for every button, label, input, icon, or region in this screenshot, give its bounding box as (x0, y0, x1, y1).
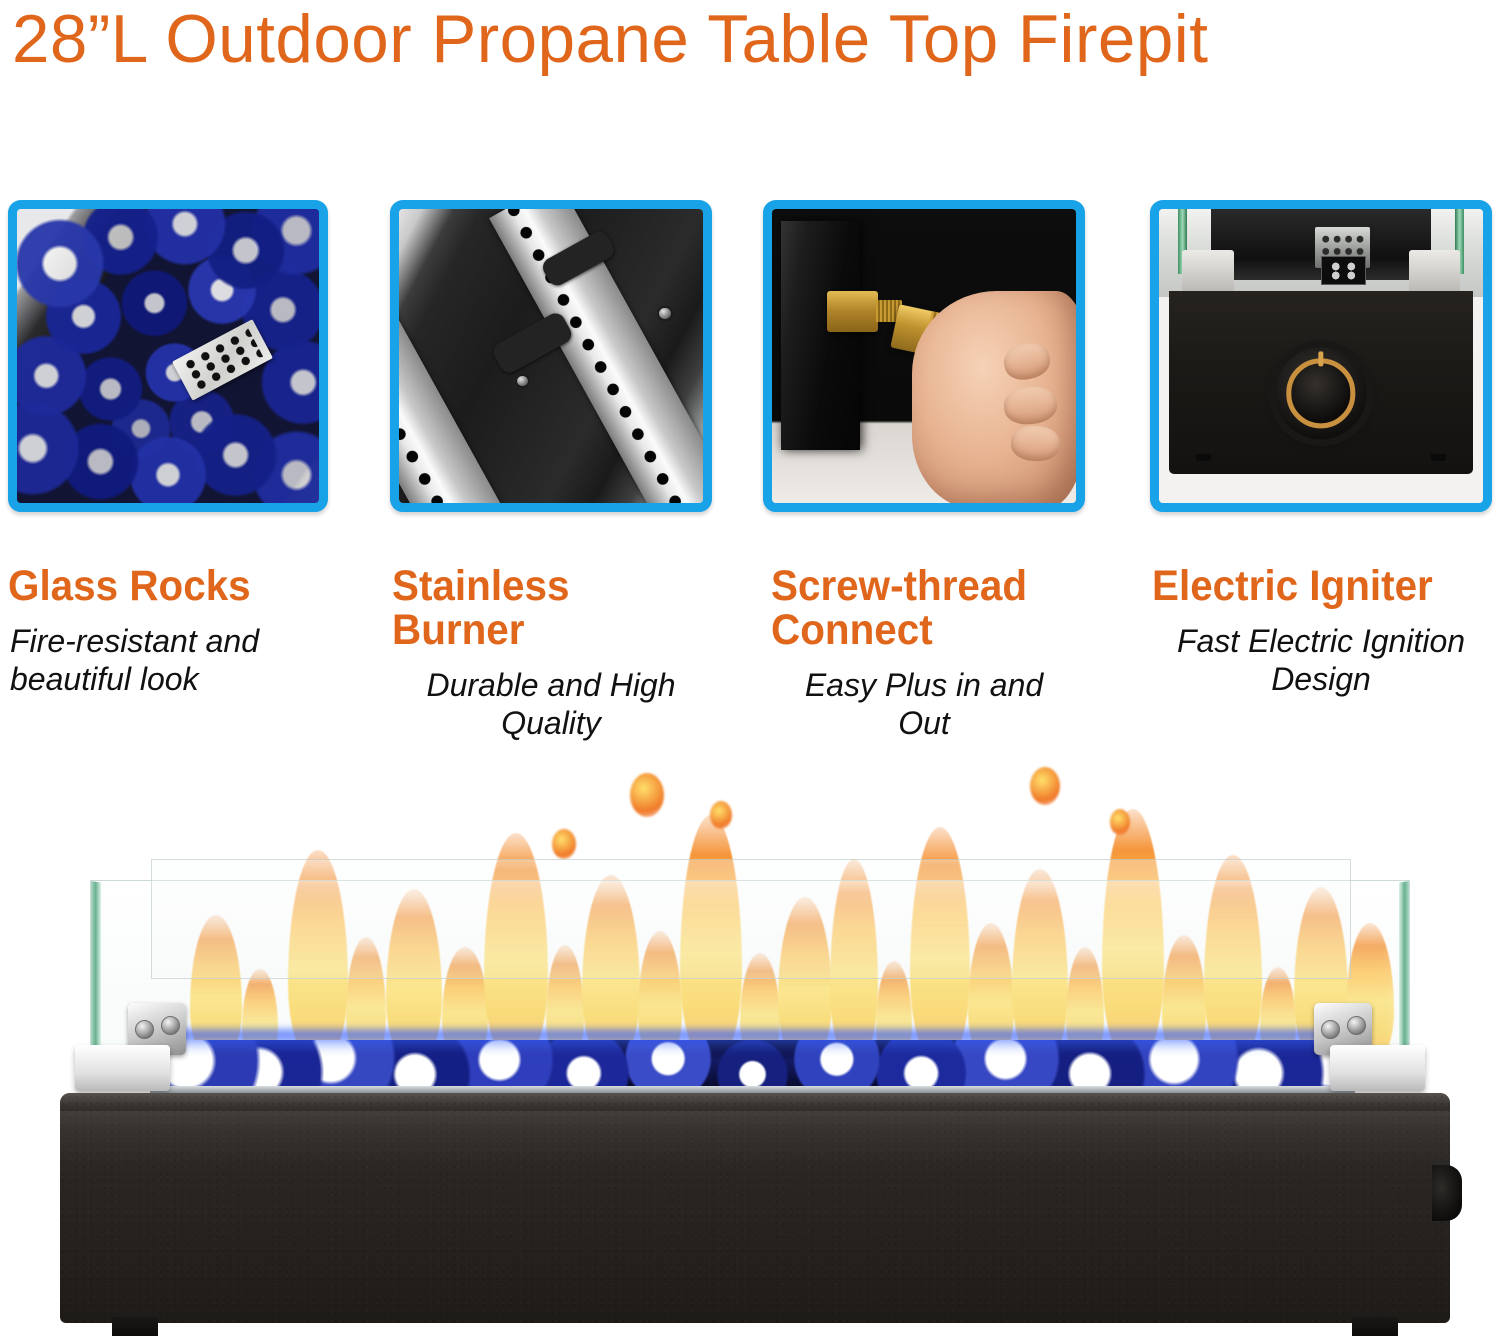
control-knob (1275, 348, 1366, 439)
firepit-inlet-panel (781, 221, 860, 450)
foot (1431, 454, 1446, 461)
screw-icon (657, 306, 672, 321)
control-knob (1432, 1165, 1462, 1221)
feature-description: Fast Electric Ignition Design (1150, 622, 1492, 698)
glass-rocks-photo (17, 209, 319, 503)
finger (1010, 425, 1061, 461)
base-sheen (60, 1111, 1450, 1171)
firepit-end-panel (1169, 291, 1474, 473)
fire-glass-rock-bed (150, 1040, 1355, 1092)
page-title: 28”L Outdoor Propane Table Top Firepit (12, 0, 1477, 80)
feature-description: Easy Plus in and Out (763, 666, 1085, 742)
feature-thumbnail-glass-rocks (8, 200, 328, 512)
foot (1352, 1317, 1398, 1336)
ember (1030, 767, 1060, 805)
feature-row: Glass Rocks Fire-resistant and beautiful… (0, 200, 1500, 745)
corner-cap-left (75, 1045, 170, 1091)
feature-stainless-burner: Stainless Burner Durable and High Qualit… (390, 200, 712, 742)
screw-thread-photo (772, 209, 1076, 503)
electric-igniter-photo (1159, 209, 1483, 503)
finger (1000, 339, 1052, 383)
blue-glass-rocks (17, 209, 319, 503)
feature-heading: Stainless Burner (392, 564, 693, 652)
foot (112, 1317, 158, 1336)
feature-description: Fire-resistant and beautiful look (8, 622, 328, 698)
brass-inlet-fitting (827, 291, 879, 332)
ember (552, 829, 576, 859)
corner-bracket-right (1409, 250, 1461, 294)
glass-back-panel (151, 859, 1351, 979)
feature-description: Durable and High Quality (390, 666, 712, 742)
feature-thumbnail-electric-igniter (1150, 200, 1492, 512)
main-product-image (0, 745, 1500, 1336)
feature-thumbnail-stainless-burner (390, 200, 712, 512)
ember (630, 773, 664, 817)
product-infographic: 28”L Outdoor Propane Table Top Firepit G… (0, 0, 1500, 1336)
feature-thumbnail-screw-thread (763, 200, 1085, 512)
feature-glass-rocks: Glass Rocks Fire-resistant and beautiful… (8, 200, 328, 698)
stainless-burner-photo (399, 209, 703, 503)
corner-bracket-left (1182, 250, 1234, 294)
foot (1196, 454, 1211, 461)
firepit-base (60, 1093, 1450, 1323)
igniter-electrode-block (1321, 256, 1366, 285)
corner-cap-right (1330, 1045, 1425, 1091)
feature-screw-thread-connect: Screw-thread Connect Easy Plus in and Ou… (763, 200, 1085, 742)
ember (710, 801, 732, 829)
finger (1002, 384, 1058, 426)
feature-heading: Electric Igniter (1152, 564, 1472, 608)
hand (912, 291, 1076, 503)
feature-heading: Glass Rocks (8, 564, 309, 608)
ember (1110, 809, 1130, 835)
feature-electric-igniter: Electric Igniter Fast Electric Ignition … (1150, 200, 1492, 698)
feature-heading: Screw-thread Connect (771, 564, 1066, 652)
screw-icon (515, 374, 530, 389)
